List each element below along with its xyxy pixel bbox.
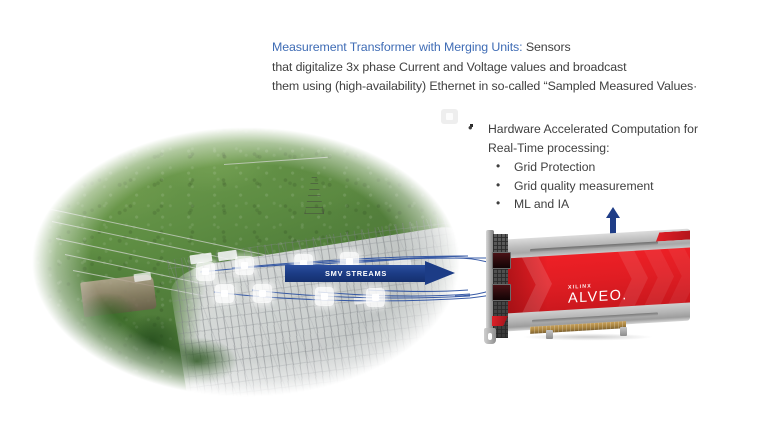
card-foot	[546, 330, 553, 339]
card-foot	[620, 327, 627, 336]
smv-streams-arrow: SMV STREAMS	[285, 265, 455, 282]
bullet-list: • Hardware Accelerated Computation for R…	[462, 120, 762, 214]
bullet-main-line-2: Real-Time processing:	[488, 139, 762, 158]
bullet-item-grid-quality: • Grid quality measurement	[514, 177, 762, 196]
bullet-main-line-1: Hardware Accelerated Computation for	[488, 120, 762, 139]
foreground-trees	[30, 284, 272, 398]
bullet-item-ml-ia: • ML and IA	[514, 195, 762, 214]
bullet-dot-icon: •	[496, 157, 500, 176]
sensor-marker	[235, 256, 254, 275]
bullet-sub-label: Grid quality measurement	[514, 179, 654, 193]
bracket-mounting-tab	[484, 328, 496, 344]
headline-lead-term: Measurement Transformer with Merging Uni…	[272, 40, 522, 54]
sensor-marker	[315, 287, 334, 306]
smv-arrow-label: SMV STREAMS	[285, 265, 427, 282]
slide-canvas: Measurement Transformer with Merging Uni…	[0, 0, 768, 432]
headline-line-1-rest: Sensors	[522, 40, 570, 54]
card-io-bracket	[484, 228, 510, 346]
content-placeholder-icon	[441, 109, 458, 124]
bullet-sub-label: ML and IA	[514, 197, 569, 211]
headline-paragraph: Measurement Transformer with Merging Uni…	[272, 38, 768, 97]
qsfp-port	[492, 284, 511, 301]
card-body: XILINX ALVEO.	[506, 229, 690, 336]
sensor-marker	[253, 284, 272, 303]
smv-arrow-head-icon	[425, 261, 455, 285]
bullet-dot-icon: •	[496, 194, 500, 213]
card-top-red-accent	[656, 231, 690, 242]
sensor-marker	[196, 262, 215, 281]
headline-line-3: them using (high-availability) Ethernet …	[272, 77, 768, 97]
sensor-marker	[215, 284, 234, 303]
bullet-item-main: • Hardware Accelerated Computation for R…	[462, 120, 762, 157]
bullet-sub-label: Grid Protection	[514, 160, 595, 174]
headline-line-1: Measurement Transformer with Merging Uni…	[272, 38, 768, 58]
sensor-marker	[366, 288, 385, 307]
qsfp-port	[492, 252, 511, 269]
bullet-dot-icon: •	[496, 176, 500, 195]
card-bottom-vent-slot	[532, 312, 658, 322]
headline-line-2: that digitalize 3x phase Current and Vol…	[272, 58, 768, 78]
bullet-dot-icon: •	[468, 119, 473, 138]
xilinx-alveo-card: XILINX ALVEO.	[484, 228, 698, 346]
bullet-item-grid-protection: • Grid Protection	[514, 158, 762, 177]
bullet-sublist: • Grid Protection • Grid quality measure…	[462, 158, 762, 214]
